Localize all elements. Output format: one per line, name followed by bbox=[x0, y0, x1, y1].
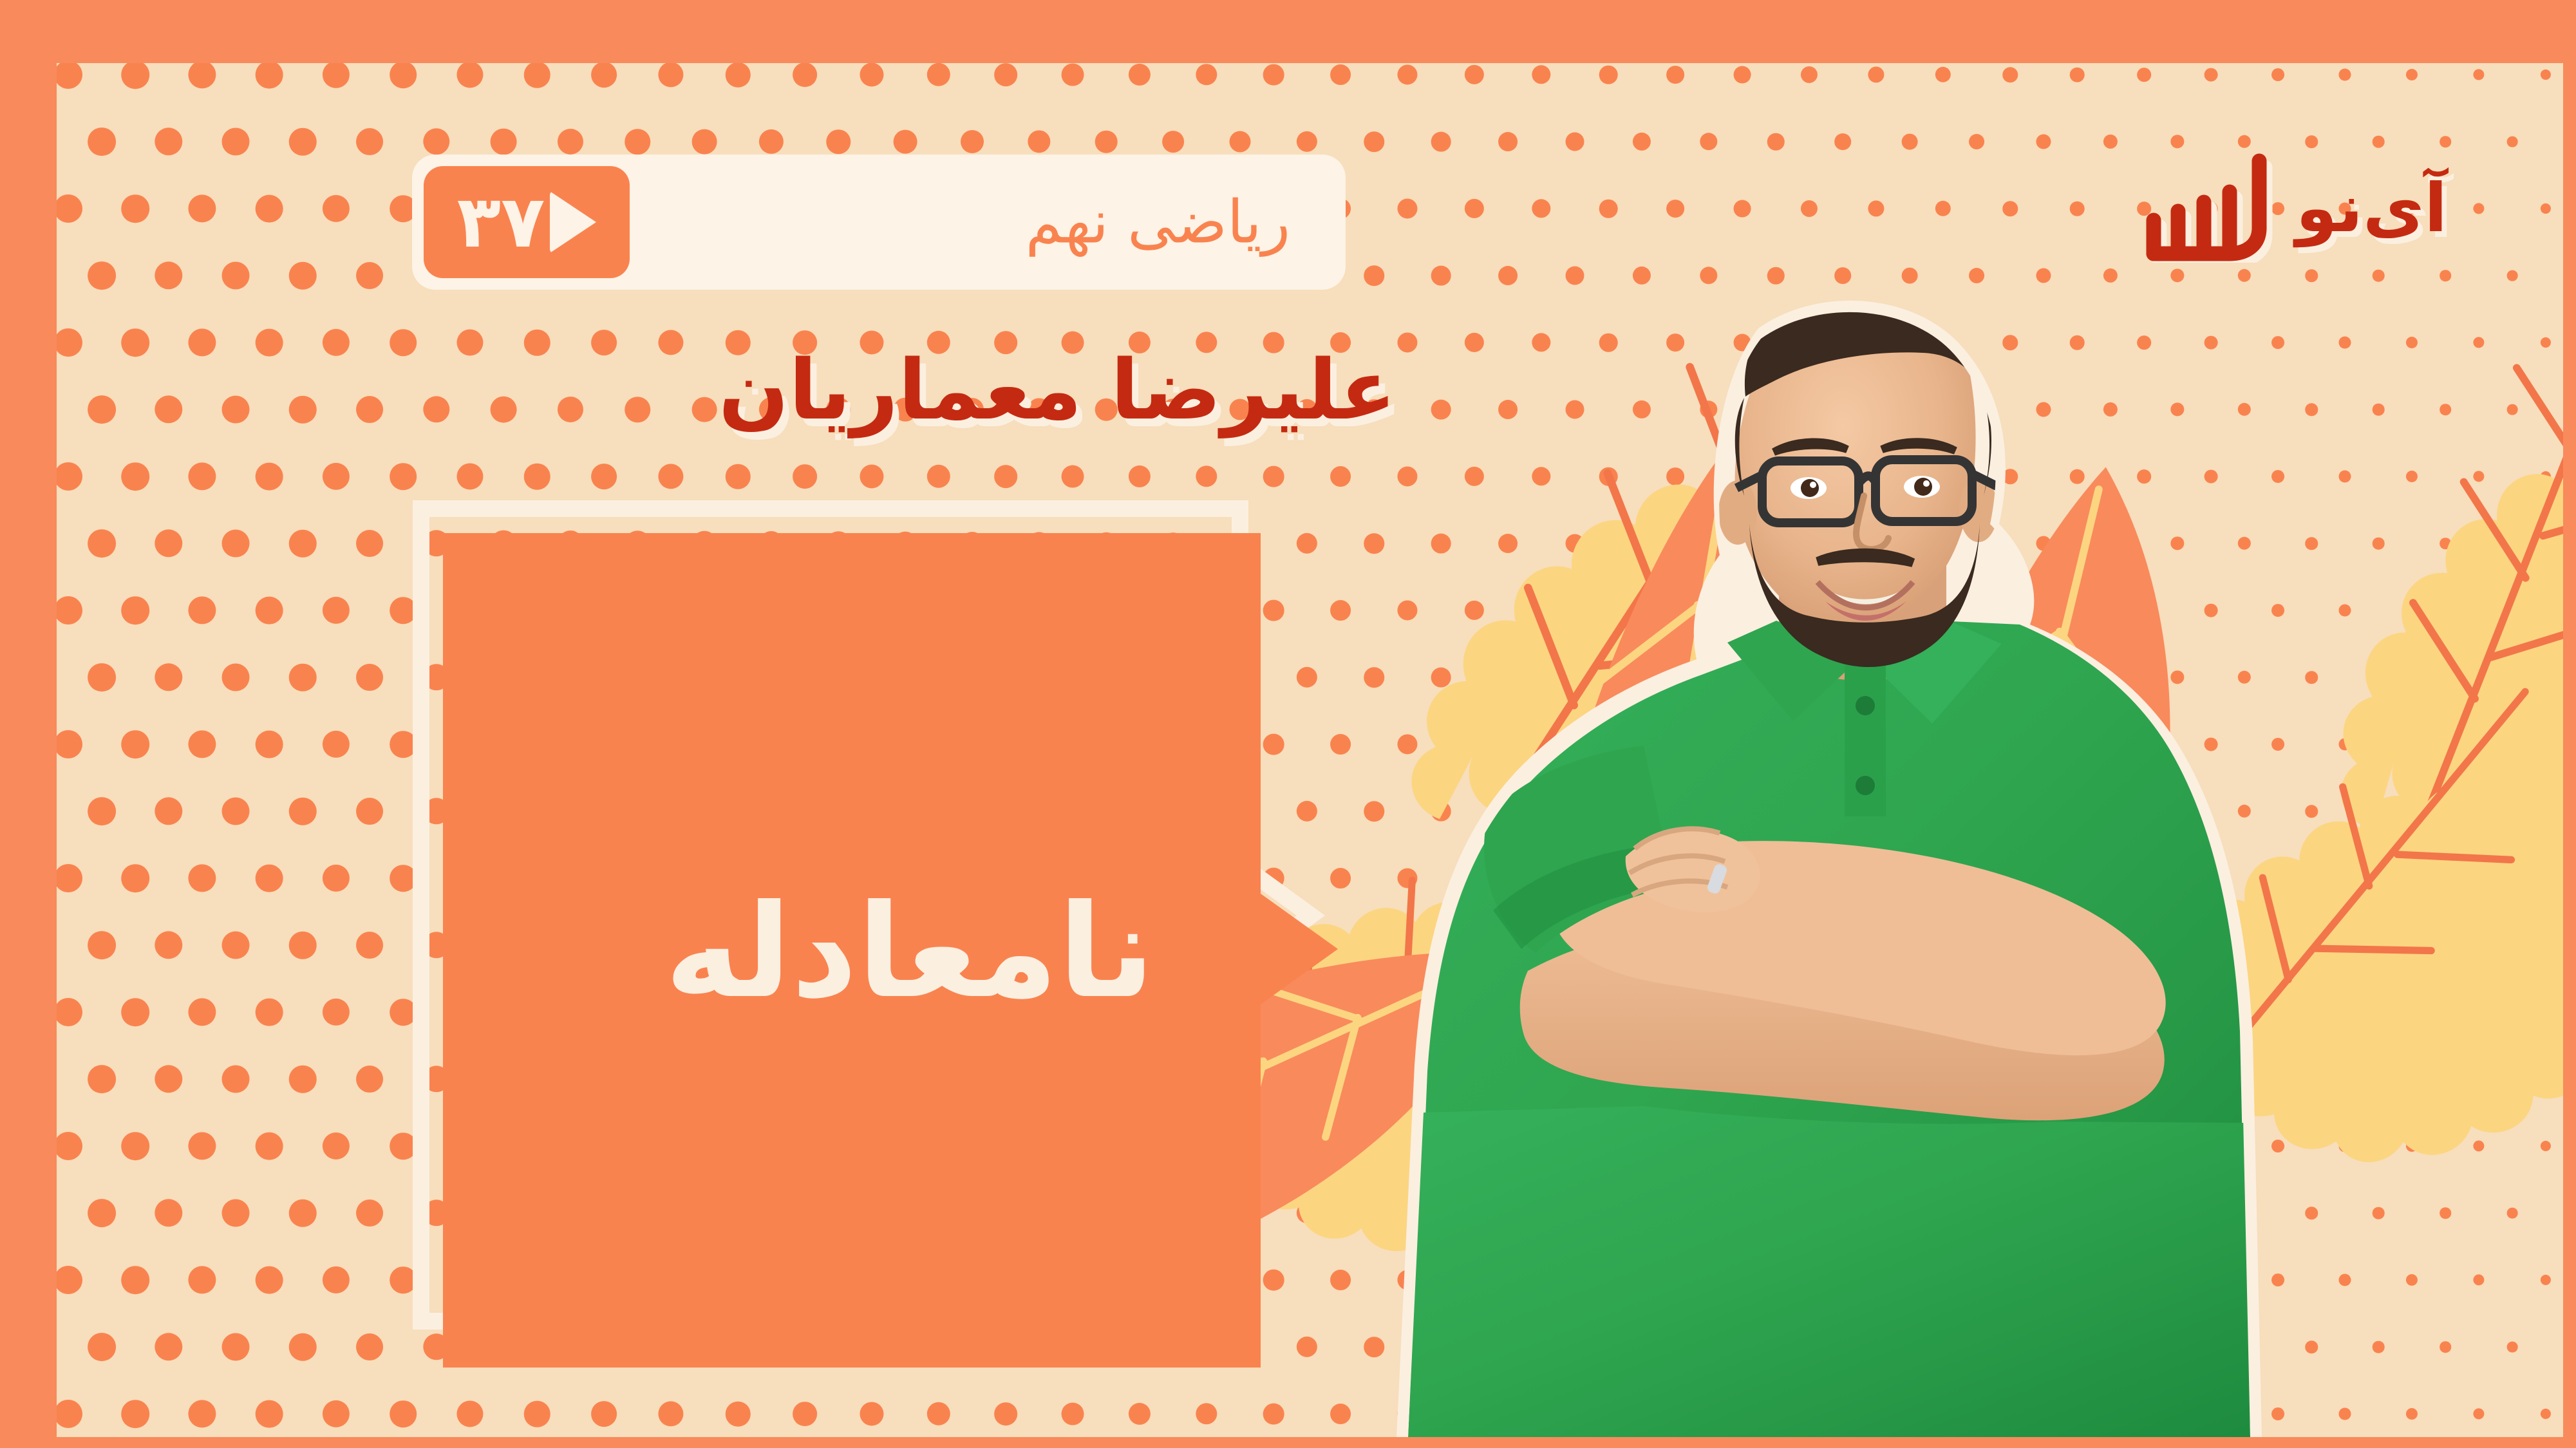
iris-right bbox=[1914, 478, 1932, 496]
subject-label: ریاضی نهم bbox=[1026, 188, 1290, 257]
episode-badge[interactable]: ۳۷ bbox=[424, 166, 630, 278]
thumbnail-canvas: نامعادله ۳۷ ریاضی نهم علیرضا معماریان آی… bbox=[0, 0, 2576, 1448]
brand-logo[interactable]: آی‌نو bbox=[2128, 153, 2447, 263]
brand-logo-text: آی‌نو bbox=[2296, 174, 2447, 241]
eye-highlight-left bbox=[1810, 482, 1816, 488]
ino-bar-mark-icon bbox=[2128, 153, 2279, 263]
lesson-title-card: نامعادله bbox=[409, 497, 1504, 1437]
polo-button-top bbox=[1856, 696, 1875, 715]
moustache bbox=[1818, 553, 1913, 563]
iris-left bbox=[1801, 479, 1819, 497]
inner-canvas: نامعادله ۳۷ ریاضی نهم علیرضا معماریان آی… bbox=[57, 63, 2563, 1437]
eye-highlight-right bbox=[1923, 480, 1930, 487]
lesson-title: نامعادله bbox=[443, 533, 1377, 1370]
play-triangle-icon[interactable] bbox=[550, 191, 596, 253]
episode-subject-bar[interactable]: ۳۷ ریاضی نهم bbox=[412, 155, 1346, 290]
teacher-portrait bbox=[1367, 166, 2307, 1437]
polo-button-bottom bbox=[1856, 776, 1875, 795]
episode-number: ۳۷ bbox=[457, 186, 545, 258]
shirt-lower bbox=[1408, 1106, 2250, 1437]
teacher-name: علیرضا معماریان bbox=[719, 341, 1396, 440]
